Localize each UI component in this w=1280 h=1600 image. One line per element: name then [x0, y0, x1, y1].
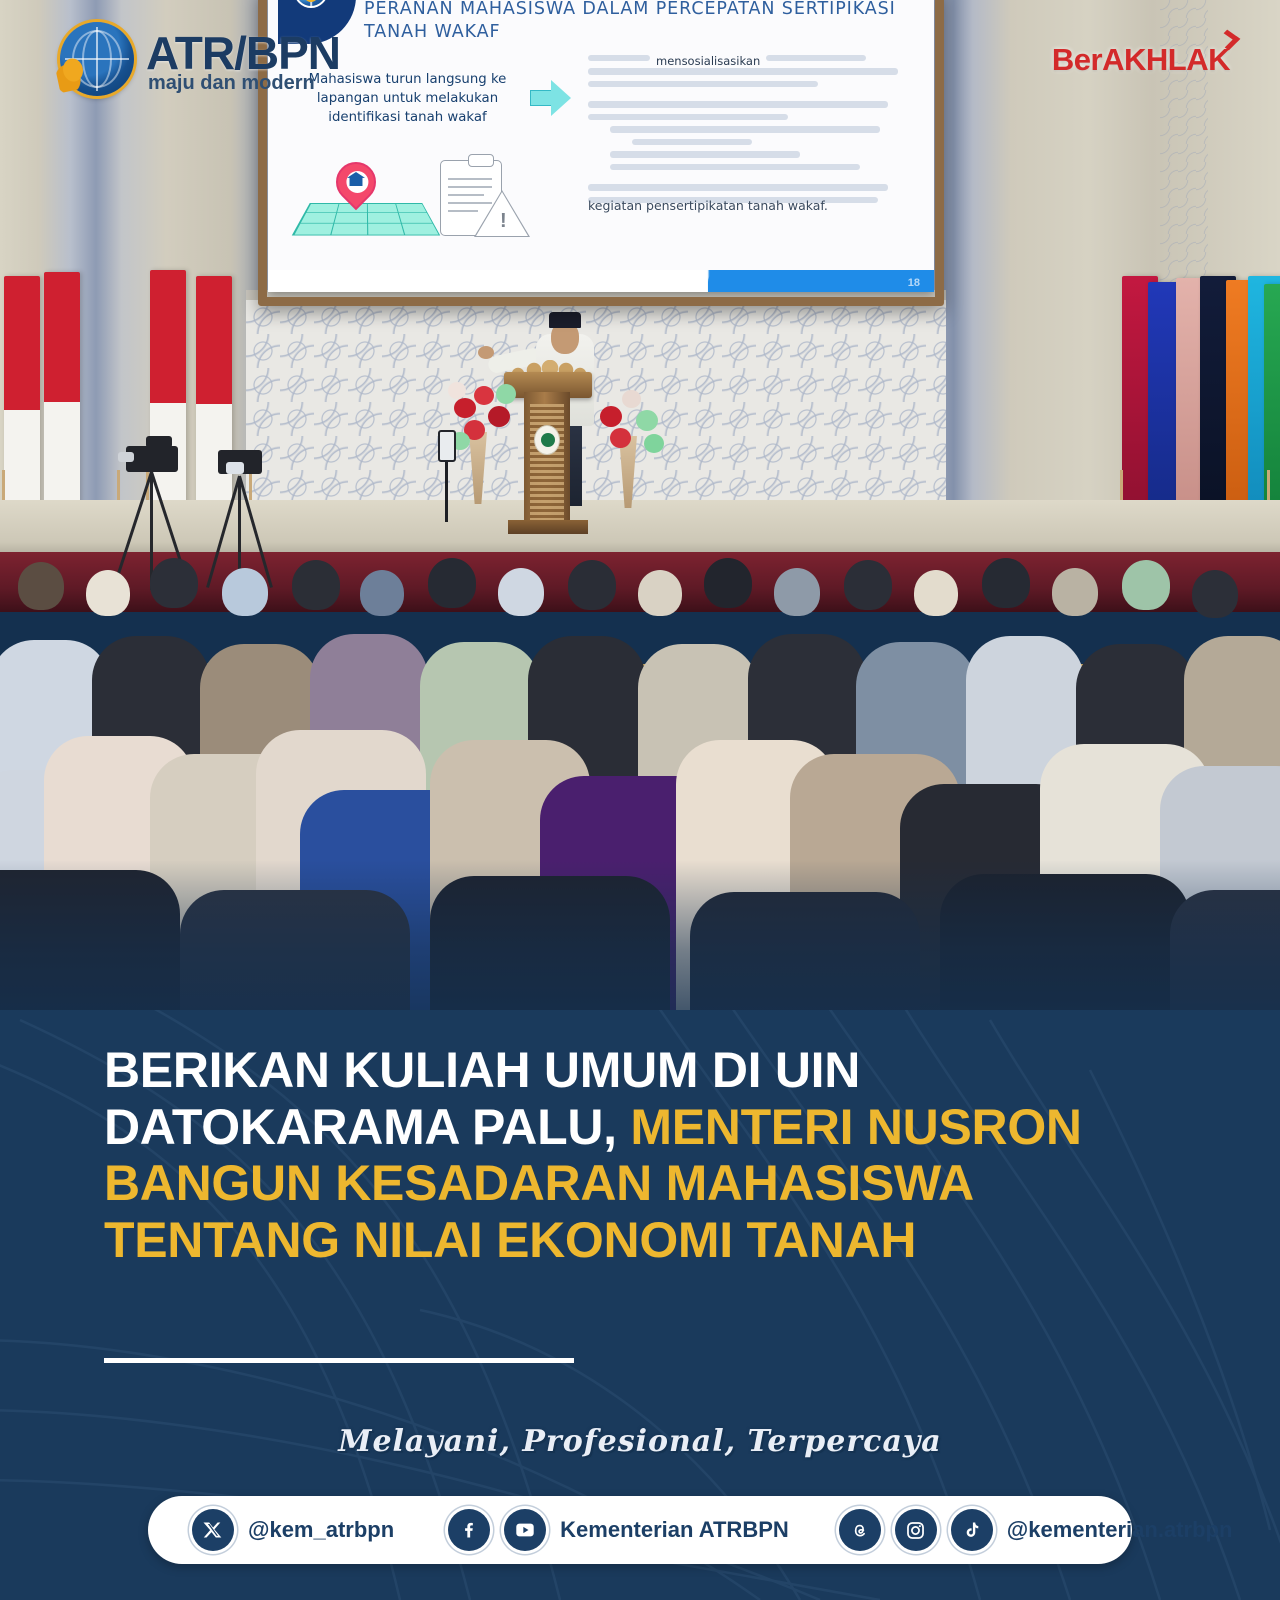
- threads-icon[interactable]: [839, 1509, 881, 1551]
- instagram-handle-label: @kementerian.atrbpn: [1007, 1517, 1233, 1543]
- event-photo: PERANAN MAHASISWA DALAM PERCEPATAN SERTI…: [0, 0, 1280, 1060]
- motto-text: Melayani, Profesional, Terpercaya: [0, 1424, 1280, 1459]
- social-group-x[interactable]: @kem_atrbpn: [192, 1509, 394, 1551]
- headline-line-2a: DATOKARAMA PALU,: [104, 1099, 617, 1155]
- x-handle-label: @kem_atrbpn: [248, 1517, 394, 1543]
- youtube-icon[interactable]: [504, 1509, 546, 1551]
- x-twitter-icon[interactable]: [192, 1509, 234, 1551]
- instagram-icon[interactable]: [895, 1509, 937, 1551]
- berakhlak-logo: BerAKHLAK: [1052, 42, 1230, 78]
- headline-line-4: TENTANG NILAI EKONOMI TANAH: [104, 1212, 916, 1268]
- headline-line-2b: MENTERI NUSRON: [630, 1099, 1081, 1155]
- headline-line-1: BERIKAN KULIAH UMUM DI UIN: [104, 1042, 860, 1098]
- atrbpn-tagline: maju dan modern: [148, 72, 315, 95]
- atrbpn-logo: ATR/BPN maju dan modern: [60, 14, 380, 96]
- headline: BERIKAN KULIAH UMUM DI UIN DATOKARAMA PA…: [104, 1042, 1194, 1268]
- social-group-instagram[interactable]: @kementerian.atrbpn: [839, 1509, 1233, 1551]
- meta-handle-label: Kementerian ATRBPN: [560, 1517, 789, 1543]
- headline-line-3: BANGUN KESADARAN MAHASISWA: [104, 1155, 974, 1211]
- social-media-bar: @kem_atrbpn Kementerian ATRBPN: [148, 1496, 1132, 1564]
- tiktok-icon[interactable]: [951, 1509, 993, 1551]
- divider-rule: [104, 1358, 574, 1363]
- exclamation-icon: !: [500, 210, 507, 233]
- facebook-icon[interactable]: [448, 1509, 490, 1551]
- poster-root: PERANAN MAHASISWA DALAM PERCEPATAN SERTI…: [0, 0, 1280, 1600]
- social-group-meta[interactable]: Kementerian ATRBPN: [448, 1509, 789, 1551]
